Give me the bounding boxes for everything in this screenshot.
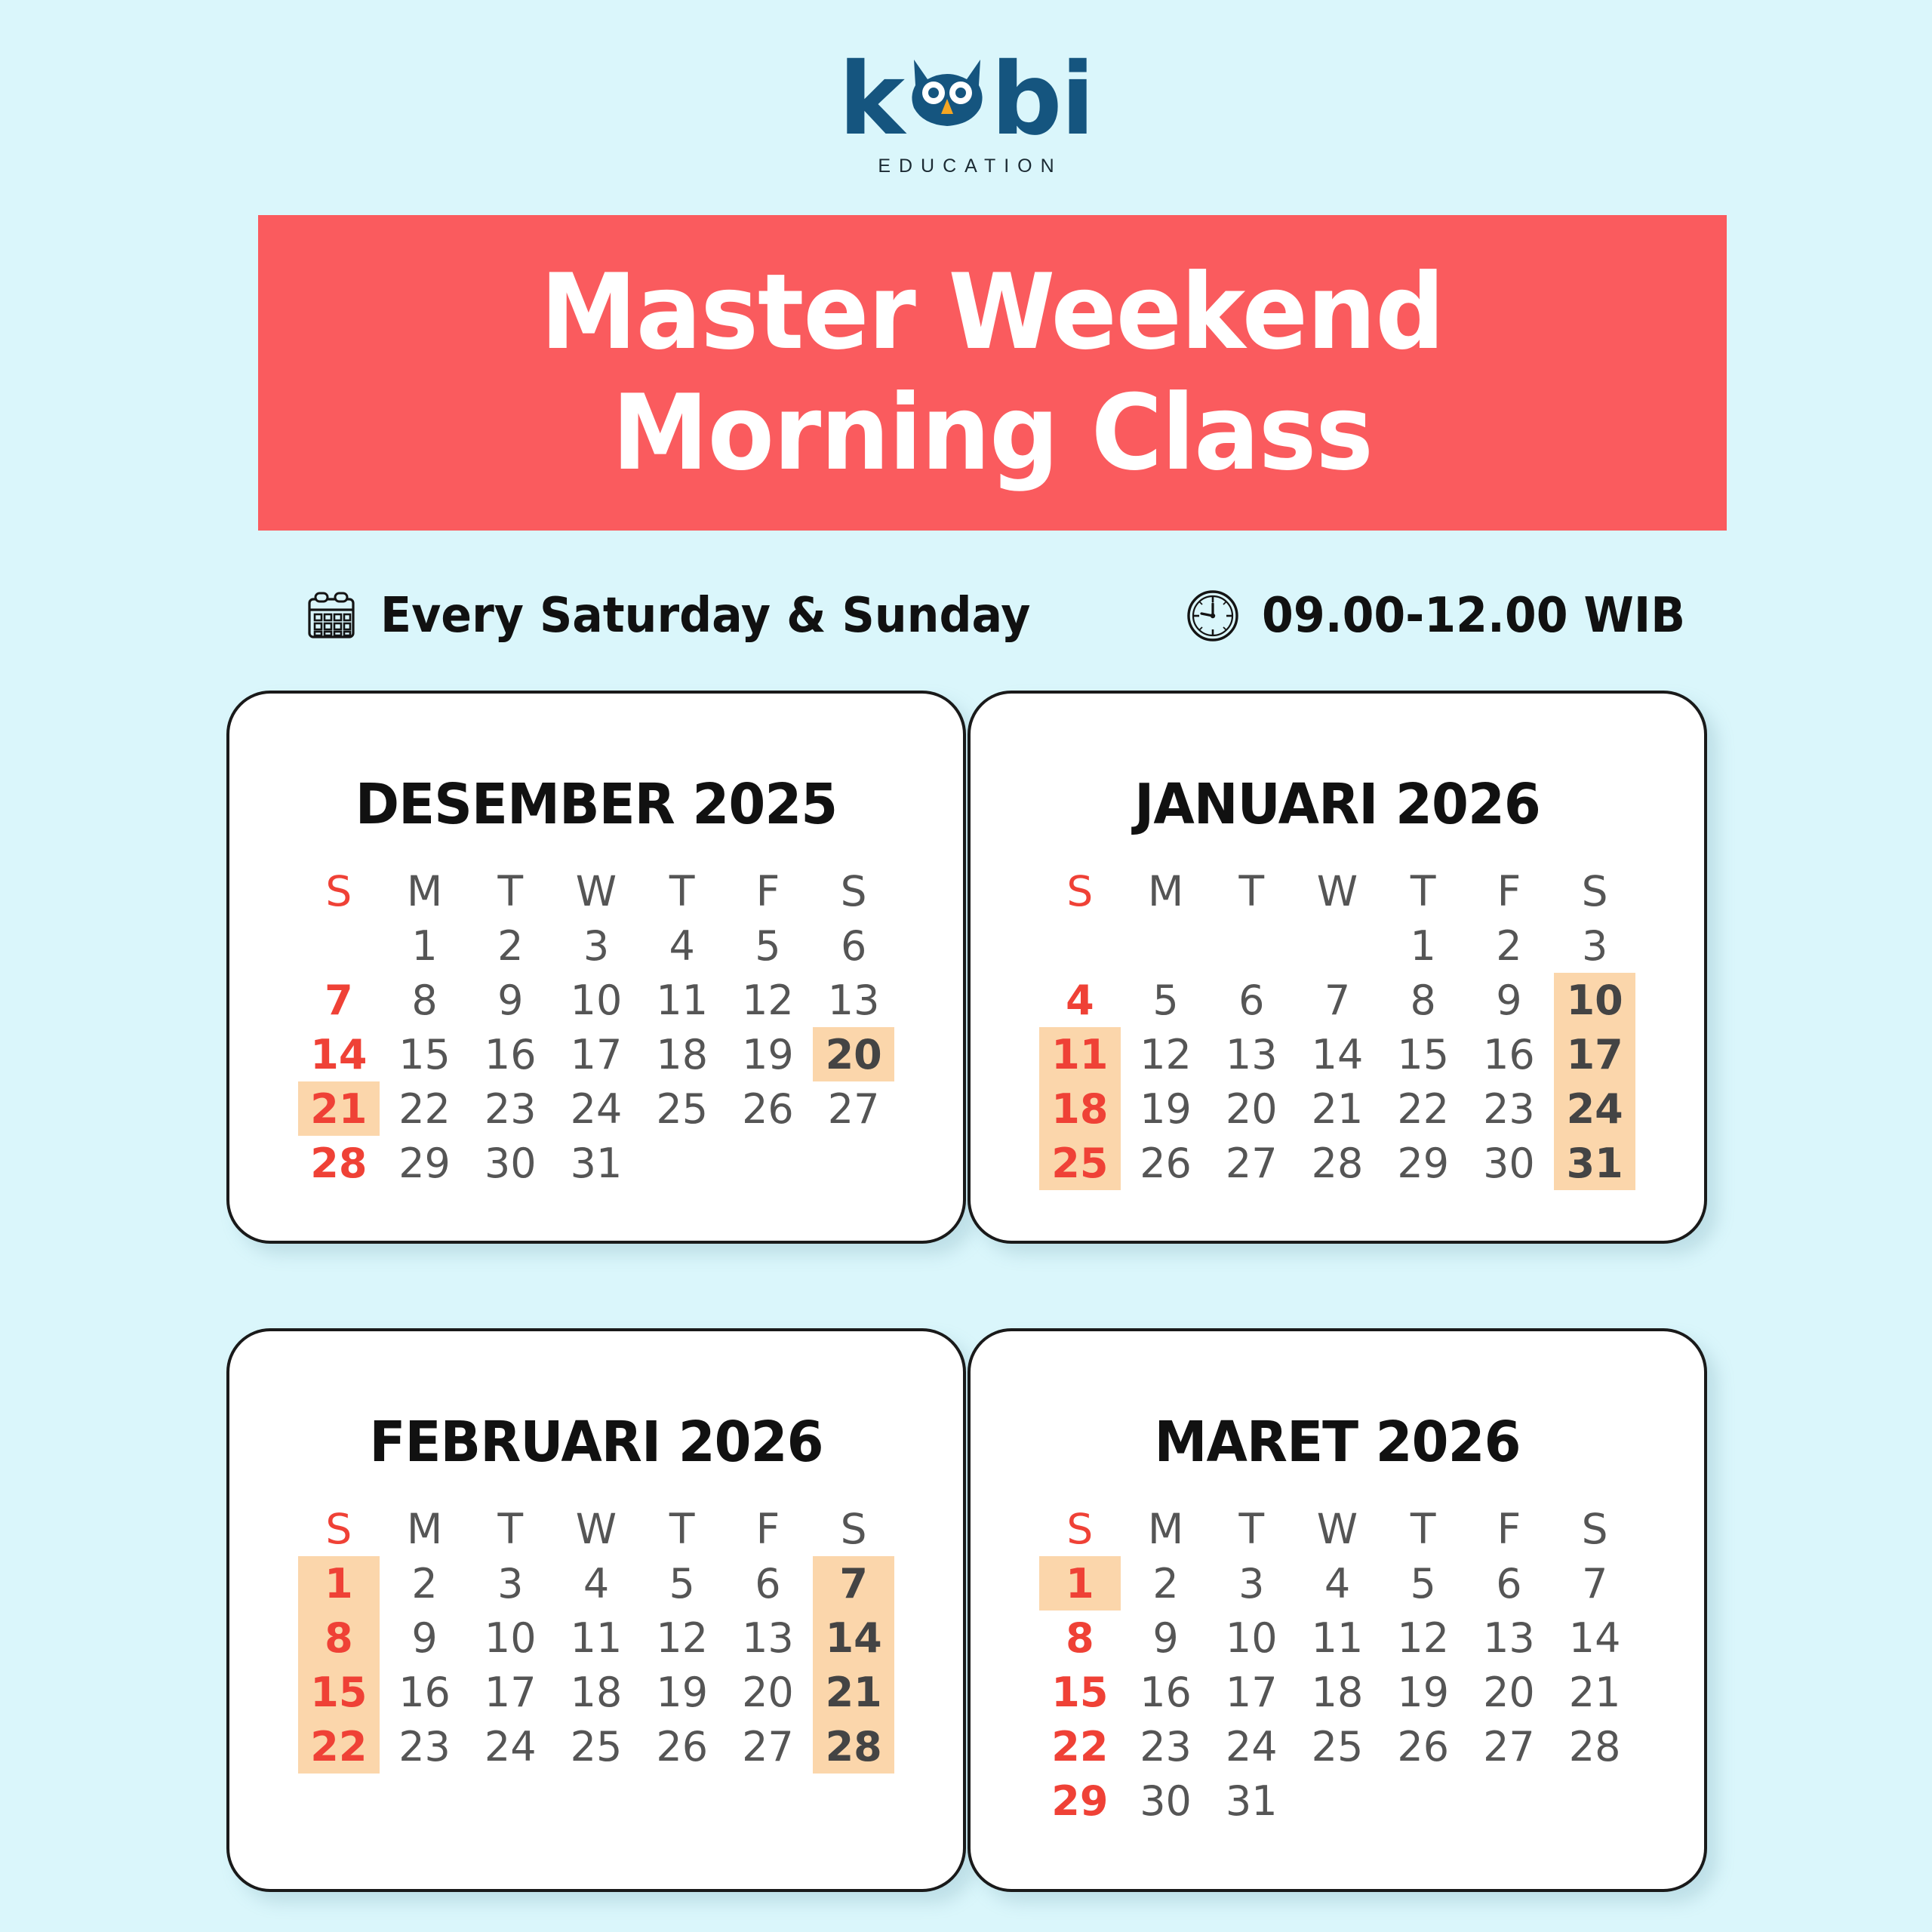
clock-icon <box>1185 588 1241 644</box>
calendar-date-cell[interactable]: 1 <box>1380 918 1466 973</box>
calendar-date-number: 9 <box>411 1614 437 1662</box>
calendar-date-cell[interactable]: 23 <box>1466 1081 1552 1136</box>
calendar-date-cell[interactable]: 3 <box>467 1556 553 1611</box>
weekday-header: T <box>639 1502 725 1556</box>
calendar-date-number: 11 <box>1051 1031 1108 1078</box>
weekday-header: T <box>1380 864 1466 918</box>
calendar-date-number: 7 <box>839 1560 868 1607</box>
calendar-date-cell[interactable]: 27 <box>1208 1136 1294 1190</box>
calendar-date-number: 30 <box>485 1140 537 1187</box>
calendar-date-number: 14 <box>826 1614 882 1662</box>
calendar-date-cell[interactable]: 22 <box>382 1081 468 1136</box>
calendar-date-number: 29 <box>1051 1777 1108 1825</box>
calendar-date-cell[interactable]: 27 <box>811 1081 897 1136</box>
calendar-date-number: 1 <box>1066 1560 1094 1607</box>
calendar-date-cell[interactable]: 25 <box>1294 1719 1380 1774</box>
calendar-date-cell[interactable]: 31 <box>553 1136 639 1190</box>
calendar-date-cell[interactable]: 24 <box>467 1719 553 1774</box>
calendar-date-cell[interactable]: 7 <box>1552 1556 1638 1611</box>
calendar-date-number: 26 <box>1140 1140 1192 1187</box>
calendar-date-cell[interactable]: 24 <box>1208 1719 1294 1774</box>
weekday-header: T <box>639 864 725 918</box>
calendar-date-cell[interactable]: 21 <box>1552 1665 1638 1719</box>
calendar-date-cell[interactable]: 2 <box>467 918 553 973</box>
calendar-date-cell[interactable]: 9 <box>382 1611 468 1665</box>
calendar-date-cell[interactable]: 8 <box>1380 973 1466 1027</box>
weekday-header: F <box>1466 864 1552 918</box>
calendar-date-number: 24 <box>1567 1085 1623 1133</box>
calendar-date-number: 2 <box>411 1560 437 1607</box>
calendar-date-cell[interactable]: 17 <box>1208 1665 1294 1719</box>
calendar-date-number: 13 <box>742 1614 794 1662</box>
calendar-date-number: 29 <box>398 1140 451 1187</box>
calendar-date-cell[interactable]: 28 <box>296 1136 382 1190</box>
calendar-date-cell[interactable]: 4 <box>553 1556 639 1611</box>
calendar-date-number: 21 <box>1569 1669 1621 1716</box>
calendar-date-cell[interactable]: 30 <box>1466 1136 1552 1190</box>
calendar-date-number: 18 <box>571 1669 623 1716</box>
calendar-date-number: 4 <box>583 1560 609 1607</box>
calendar-date-number: 9 <box>497 977 523 1024</box>
calendar-date-cell[interactable]: 15 <box>296 1665 382 1719</box>
weekday-header: S <box>1552 864 1638 918</box>
calendar-date-number: 15 <box>398 1031 451 1078</box>
calendar-date-cell[interactable]: 29 <box>1380 1136 1466 1190</box>
weekday-header: T <box>1208 1502 1294 1556</box>
calendar-date-number: 23 <box>398 1723 451 1770</box>
calendar-date-cell[interactable]: 31 <box>1208 1774 1294 1828</box>
calendar-card-january: JANUARI 2026SMTWTFS123456789101112131415… <box>968 691 1707 1244</box>
calendar-date-cell[interactable]: 31 <box>1552 1136 1638 1190</box>
weekday-header: W <box>1294 1502 1380 1556</box>
calendar-date-number: 12 <box>1397 1614 1449 1662</box>
calendar-date-number: 15 <box>1397 1031 1449 1078</box>
calendar-grid-container: DESEMBER 2025SMTWTFS12345678910111213141… <box>226 691 1707 1883</box>
weekday-header: M <box>1123 864 1209 918</box>
calendar-date-cell[interactable]: 8 <box>1037 1611 1123 1665</box>
calendar-date-cell[interactable]: 20 <box>811 1027 897 1081</box>
calendar-date-cell[interactable]: 27 <box>1466 1719 1552 1774</box>
weekday-header: W <box>553 1502 639 1556</box>
weekday-header: W <box>1294 864 1380 918</box>
calendar-date-number: 8 <box>411 977 437 1024</box>
calendar-date-number: 27 <box>1483 1723 1535 1770</box>
calendar-date-cell[interactable]: 12 <box>639 1611 725 1665</box>
calendar-date-number: 8 <box>325 1614 353 1662</box>
calendar-date-number: 2 <box>1496 922 1521 970</box>
calendar-date-cell[interactable]: 28 <box>811 1719 897 1774</box>
calendar-date-number: 19 <box>1140 1085 1192 1133</box>
calendar-date-cell[interactable]: 3 <box>1552 918 1638 973</box>
calendar-date-cell[interactable]: 3 <box>553 918 639 973</box>
calendar-date-cell[interactable]: 6 <box>1466 1556 1552 1611</box>
calendar-date-cell[interactable]: 29 <box>382 1136 468 1190</box>
calendar-date-number: 12 <box>742 977 794 1024</box>
calendar-date-number: 1 <box>1411 922 1436 970</box>
calendar-date-number: 2 <box>1152 1560 1178 1607</box>
calendar-date-cell[interactable]: 6 <box>1208 973 1294 1027</box>
calendar-date-number: 20 <box>742 1669 794 1716</box>
calendar-blank-cell <box>296 918 382 973</box>
calendar-date-number: 18 <box>1312 1669 1364 1716</box>
calendar-date-number: 7 <box>325 977 353 1024</box>
calendar-date-number: 25 <box>1312 1723 1364 1770</box>
calendar-date-number: 3 <box>1582 922 1607 970</box>
weekday-header: T <box>1208 864 1294 918</box>
calendar-date-number: 21 <box>1312 1085 1364 1133</box>
calendar-date-number: 28 <box>1569 1723 1621 1770</box>
calendar-date-cell[interactable]: 29 <box>1037 1774 1123 1828</box>
calendar-date-number: 15 <box>310 1669 367 1716</box>
calendar-blank-cell <box>1123 918 1209 973</box>
calendar-date-cell[interactable]: 9 <box>467 973 553 1027</box>
weekday-header: S <box>1037 864 1123 918</box>
calendar-date-cell[interactable]: 14 <box>296 1027 382 1081</box>
calendar-date-cell[interactable]: 25 <box>1037 1136 1123 1190</box>
calendar-date-cell[interactable]: 13 <box>725 1611 811 1665</box>
calendar-date-number: 31 <box>1567 1140 1623 1187</box>
calendar-date-number: 6 <box>1496 1560 1521 1607</box>
calendar-date-cell[interactable]: 11 <box>553 1611 639 1665</box>
calendar-date-cell[interactable]: 11 <box>1294 1611 1380 1665</box>
calendar-date-number: 17 <box>1226 1669 1278 1716</box>
calendar-date-cell[interactable]: 10 <box>1552 973 1638 1027</box>
calendar-date-cell[interactable]: 1 <box>296 1556 382 1611</box>
calendar-date-cell[interactable]: 16 <box>1123 1665 1209 1719</box>
calendar-date-cell[interactable]: 1 <box>382 918 468 973</box>
headline-line-1: Master Weekend <box>540 252 1444 373</box>
calendar-date-number: 18 <box>656 1031 708 1078</box>
calendar-date-number: 1 <box>325 1560 353 1607</box>
calendar-date-number: 24 <box>571 1085 623 1133</box>
calendar-date-cell[interactable]: 2 <box>382 1556 468 1611</box>
calendar-date-cell[interactable]: 22 <box>1380 1081 1466 1136</box>
calendar-date-cell[interactable]: 7 <box>811 1556 897 1611</box>
calendar-date-number: 6 <box>1238 977 1264 1024</box>
brand-subtitle: EDUCATION <box>869 155 1062 177</box>
calendar-date-cell[interactable]: 27 <box>725 1719 811 1774</box>
calendar-date-number: 14 <box>310 1031 367 1078</box>
calendar-date-number: 16 <box>398 1669 451 1716</box>
calendar-date-cell[interactable]: 28 <box>1552 1719 1638 1774</box>
calendar-date-number: 5 <box>755 922 780 970</box>
calendar-date-number: 11 <box>571 1614 623 1662</box>
calendar-blank-cell <box>1208 918 1294 973</box>
calendar-date-cell[interactable]: 22 <box>1037 1719 1123 1774</box>
calendar-date-cell[interactable]: 8 <box>296 1611 382 1665</box>
calendar-date-number: 16 <box>1483 1031 1535 1078</box>
info-row: Every Saturday & Sunday <box>303 581 1669 651</box>
calendar-date-cell[interactable]: 24 <box>1552 1081 1638 1136</box>
calendar-icon <box>303 588 359 644</box>
calendar-date-cell[interactable]: 26 <box>1123 1136 1209 1190</box>
calendar-date-cell[interactable]: 15 <box>382 1027 468 1081</box>
calendar-date-number: 9 <box>1496 977 1521 1024</box>
calendar-date-cell[interactable]: 19 <box>639 1665 725 1719</box>
calendar-date-cell[interactable]: 13 <box>811 973 897 1027</box>
schedule-info: Every Saturday & Sunday <box>303 581 1072 651</box>
calendar-date-number: 3 <box>1238 1560 1264 1607</box>
calendar-date-cell[interactable]: 26 <box>639 1719 725 1774</box>
calendar-date-number: 26 <box>1397 1723 1449 1770</box>
calendar-date-number: 9 <box>1152 1614 1178 1662</box>
calendar-date-cell[interactable]: 10 <box>553 973 639 1027</box>
calendar-date-cell[interactable]: 16 <box>1466 1027 1552 1081</box>
calendar-date-cell[interactable]: 11 <box>1037 1027 1123 1081</box>
weekday-header: F <box>1466 1502 1552 1556</box>
calendar-date-number: 19 <box>742 1031 794 1078</box>
calendar-date-cell[interactable]: 7 <box>296 973 382 1027</box>
calendar-date-number: 28 <box>1312 1140 1364 1187</box>
calendar-date-number: 25 <box>571 1723 623 1770</box>
calendar-date-cell[interactable]: 14 <box>1294 1027 1380 1081</box>
calendar-date-cell[interactable]: 10 <box>1208 1611 1294 1665</box>
weekday-header: S <box>1552 1502 1638 1556</box>
calendar-date-cell[interactable]: 3 <box>1208 1556 1294 1611</box>
calendar-date-number: 4 <box>1324 1560 1350 1607</box>
calendar-card-february: FEBRUARI 2026SMTWTFS12345678910111213141… <box>226 1328 966 1892</box>
brand-letters-bi: bi <box>991 59 1094 140</box>
calendar-date-cell[interactable]: 5 <box>1380 1556 1466 1611</box>
calendar-date-cell[interactable]: 13 <box>1466 1611 1552 1665</box>
calendar-date-cell[interactable]: 26 <box>725 1081 811 1136</box>
calendar-date-cell[interactable]: 5 <box>725 918 811 973</box>
calendar-date-cell[interactable]: 10 <box>467 1611 553 1665</box>
calendar-date-cell[interactable]: 15 <box>1037 1665 1123 1719</box>
weekday-header: F <box>725 864 811 918</box>
calendar-date-number: 24 <box>485 1723 537 1770</box>
brand-wordmark: k bi <box>838 59 1094 140</box>
calendar-date-number: 6 <box>841 922 866 970</box>
calendar-date-number: 4 <box>669 922 695 970</box>
calendar-card-march: MARET 2026SMTWTFS12345678910111213141516… <box>968 1328 1707 1892</box>
calendar-date-number: 23 <box>1140 1723 1192 1770</box>
calendar-date-cell[interactable]: 12 <box>1123 1027 1209 1081</box>
calendar-blank-cell <box>1294 918 1380 973</box>
calendar-date-cell[interactable]: 15 <box>1380 1027 1466 1081</box>
calendar-date-number: 30 <box>1140 1777 1192 1825</box>
calendar-date-number: 22 <box>310 1723 367 1770</box>
schedule-label: Every Saturday & Sunday <box>380 588 1031 644</box>
calendar-date-number: 23 <box>1483 1085 1535 1133</box>
calendar-date-cell[interactable]: 18 <box>639 1027 725 1081</box>
time-label: 09.00-12.00 WIB <box>1262 588 1685 644</box>
calendar-date-number: 22 <box>1397 1085 1449 1133</box>
calendar-date-number: 10 <box>1567 977 1623 1024</box>
calendar-date-cell[interactable]: 9 <box>1123 1611 1209 1665</box>
calendar-date-number: 13 <box>828 977 880 1024</box>
calendar-date-cell[interactable]: 16 <box>467 1027 553 1081</box>
calendar-date-number: 10 <box>485 1614 537 1662</box>
brand-letter-k: k <box>838 59 903 140</box>
calendar-date-cell[interactable]: 17 <box>553 1027 639 1081</box>
calendar-date-number: 4 <box>1066 977 1094 1024</box>
calendar-date-cell[interactable]: 5 <box>1123 973 1209 1027</box>
calendar-day-grid: SMTWTFS123456789101112131415161718192021… <box>296 1502 897 1774</box>
calendar-date-number: 5 <box>1152 977 1178 1024</box>
calendar-date-number: 14 <box>1569 1614 1621 1662</box>
calendar-date-cell[interactable]: 20 <box>1208 1081 1294 1136</box>
weekday-header: S <box>811 1502 897 1556</box>
calendar-date-cell[interactable]: 20 <box>1466 1665 1552 1719</box>
calendar-date-number: 28 <box>310 1140 367 1187</box>
calendar-date-number: 27 <box>742 1723 794 1770</box>
calendar-date-number: 30 <box>1483 1140 1535 1187</box>
calendar-date-cell[interactable]: 26 <box>1380 1719 1466 1774</box>
calendar-date-cell[interactable]: 23 <box>382 1719 468 1774</box>
calendar-date-number: 20 <box>826 1031 882 1078</box>
calendar-month-title: MARET 2026 <box>989 1410 1685 1475</box>
calendar-date-number: 21 <box>826 1669 882 1716</box>
calendar-date-number: 22 <box>398 1085 451 1133</box>
calendar-date-cell[interactable]: 22 <box>296 1719 382 1774</box>
owl-face-icon <box>905 49 989 137</box>
weekday-header: T <box>467 1502 553 1556</box>
brand-logo: k bi EDUCATION <box>0 59 1932 177</box>
calendar-date-cell[interactable]: 18 <box>553 1665 639 1719</box>
weekday-header: S <box>811 864 897 918</box>
calendar-date-number: 16 <box>485 1031 537 1078</box>
calendar-date-number: 26 <box>742 1085 794 1133</box>
calendar-date-number: 31 <box>571 1140 623 1187</box>
calendar-date-number: 5 <box>669 1560 695 1607</box>
calendar-date-number: 18 <box>1051 1085 1108 1133</box>
calendar-date-number: 13 <box>1226 1031 1278 1078</box>
time-info: 09.00-12.00 WIB <box>1185 581 1712 651</box>
calendar-date-cell[interactable]: 4 <box>1037 973 1123 1027</box>
calendar-date-cell[interactable]: 23 <box>467 1081 553 1136</box>
weekday-header: W <box>553 864 639 918</box>
calendar-date-cell[interactable]: 16 <box>382 1665 468 1719</box>
calendar-date-cell[interactable]: 28 <box>1294 1136 1380 1190</box>
calendar-month-title: DESEMBER 2025 <box>248 772 944 837</box>
weekday-header: M <box>382 1502 468 1556</box>
calendar-date-cell[interactable]: 30 <box>1123 1774 1209 1828</box>
calendar-date-number: 22 <box>1051 1723 1108 1770</box>
calendar-date-cell[interactable]: 17 <box>467 1665 553 1719</box>
weekday-header: S <box>296 1502 382 1556</box>
weekday-header: S <box>1037 1502 1123 1556</box>
calendar-date-number: 3 <box>497 1560 523 1607</box>
calendar-date-cell[interactable]: 2 <box>1123 1556 1209 1611</box>
calendar-date-cell[interactable]: 19 <box>725 1027 811 1081</box>
calendar-date-cell[interactable]: 1 <box>1037 1556 1123 1611</box>
calendar-date-number: 21 <box>310 1085 367 1133</box>
calendar-date-cell[interactable]: 21 <box>811 1665 897 1719</box>
calendar-date-cell[interactable]: 6 <box>811 918 897 973</box>
calendar-date-number: 23 <box>485 1085 537 1133</box>
calendar-date-cell[interactable]: 13 <box>1208 1027 1294 1081</box>
calendar-card-december: DESEMBER 2025SMTWTFS12345678910111213141… <box>226 691 966 1244</box>
weekday-header: M <box>382 864 468 918</box>
calendar-date-cell[interactable]: 7 <box>1294 973 1380 1027</box>
calendar-date-number: 11 <box>656 977 708 1024</box>
weekday-header: T <box>1380 1502 1466 1556</box>
calendar-date-cell[interactable]: 9 <box>1466 973 1552 1027</box>
calendar-date-cell[interactable]: 4 <box>639 918 725 973</box>
calendar-date-cell[interactable]: 17 <box>1552 1027 1638 1081</box>
calendar-date-number: 27 <box>828 1085 880 1133</box>
calendar-date-number: 17 <box>485 1669 537 1716</box>
calendar-date-number: 16 <box>1140 1669 1192 1716</box>
calendar-date-cell[interactable]: 8 <box>382 973 468 1027</box>
calendar-date-number: 29 <box>1397 1140 1449 1187</box>
weekday-header: M <box>1123 1502 1209 1556</box>
calendar-date-cell[interactable]: 18 <box>1294 1665 1380 1719</box>
calendar-date-number: 17 <box>1567 1031 1623 1078</box>
calendar-date-number: 25 <box>656 1085 708 1133</box>
calendar-date-cell[interactable]: 11 <box>639 973 725 1027</box>
calendar-date-number: 14 <box>1312 1031 1364 1078</box>
calendar-date-cell[interactable]: 25 <box>553 1719 639 1774</box>
calendar-date-number: 20 <box>1483 1669 1535 1716</box>
calendar-date-number: 3 <box>583 922 609 970</box>
calendar-date-number: 20 <box>1226 1085 1278 1133</box>
calendar-date-number: 26 <box>656 1723 708 1770</box>
calendar-date-number: 12 <box>656 1614 708 1662</box>
weekday-header: T <box>467 864 553 918</box>
calendar-date-cell[interactable]: 30 <box>467 1136 553 1190</box>
calendar-date-cell[interactable]: 21 <box>1294 1081 1380 1136</box>
calendar-date-cell[interactable]: 24 <box>553 1081 639 1136</box>
calendar-month-title: FEBRUARI 2026 <box>248 1410 944 1475</box>
calendar-date-number: 27 <box>1226 1140 1278 1187</box>
weekday-header: S <box>296 864 382 918</box>
weekday-header: F <box>725 1502 811 1556</box>
calendar-date-cell[interactable]: 14 <box>1552 1611 1638 1665</box>
calendar-date-cell[interactable]: 25 <box>639 1081 725 1136</box>
calendar-date-number: 13 <box>1483 1614 1535 1662</box>
calendar-day-grid: SMTWTFS123456789101112131415161718192021… <box>1037 1502 1638 1828</box>
calendar-date-cell[interactable]: 12 <box>725 973 811 1027</box>
calendar-day-grid: SMTWTFS123456789101112131415161718192021… <box>1037 864 1638 1190</box>
calendar-date-cell[interactable]: 23 <box>1123 1719 1209 1774</box>
calendar-date-number: 17 <box>571 1031 623 1078</box>
headline-line-2: Morning Class <box>612 373 1373 494</box>
calendar-date-cell[interactable]: 2 <box>1466 918 1552 973</box>
calendar-date-number: 31 <box>1226 1777 1278 1825</box>
calendar-date-cell[interactable]: 14 <box>811 1611 897 1665</box>
calendar-date-number: 6 <box>755 1560 780 1607</box>
calendar-date-number: 24 <box>1226 1723 1278 1770</box>
calendar-date-cell[interactable]: 18 <box>1037 1081 1123 1136</box>
poster-root: k bi EDUCATION Master Weekend Morning Cl… <box>0 0 1932 1932</box>
calendar-date-cell[interactable]: 19 <box>1380 1665 1466 1719</box>
calendar-date-number: 5 <box>1411 1560 1436 1607</box>
calendar-date-number: 28 <box>826 1723 882 1770</box>
calendar-date-number: 8 <box>1066 1614 1094 1662</box>
calendar-date-number: 12 <box>1140 1031 1192 1078</box>
calendar-date-number: 15 <box>1051 1669 1108 1716</box>
calendar-date-cell[interactable]: 6 <box>725 1556 811 1611</box>
calendar-date-cell[interactable]: 5 <box>639 1556 725 1611</box>
calendar-month-title: JANUARI 2026 <box>989 772 1685 837</box>
calendar-date-cell[interactable]: 21 <box>296 1081 382 1136</box>
calendar-date-number: 25 <box>1051 1140 1108 1187</box>
calendar-date-cell[interactable]: 12 <box>1380 1611 1466 1665</box>
calendar-date-number: 19 <box>656 1669 708 1716</box>
calendar-date-number: 8 <box>1411 977 1436 1024</box>
calendar-date-cell[interactable]: 20 <box>725 1665 811 1719</box>
calendar-day-grid: SMTWTFS123456789101112131415161718192021… <box>296 864 897 1190</box>
calendar-date-number: 10 <box>1226 1614 1278 1662</box>
calendar-blank-cell <box>1037 918 1123 973</box>
calendar-date-cell[interactable]: 4 <box>1294 1556 1380 1611</box>
calendar-date-number: 7 <box>1324 977 1350 1024</box>
calendar-date-cell[interactable]: 19 <box>1123 1081 1209 1136</box>
headline-banner: Master Weekend Morning Class <box>258 215 1727 531</box>
calendar-date-number: 19 <box>1397 1669 1449 1716</box>
